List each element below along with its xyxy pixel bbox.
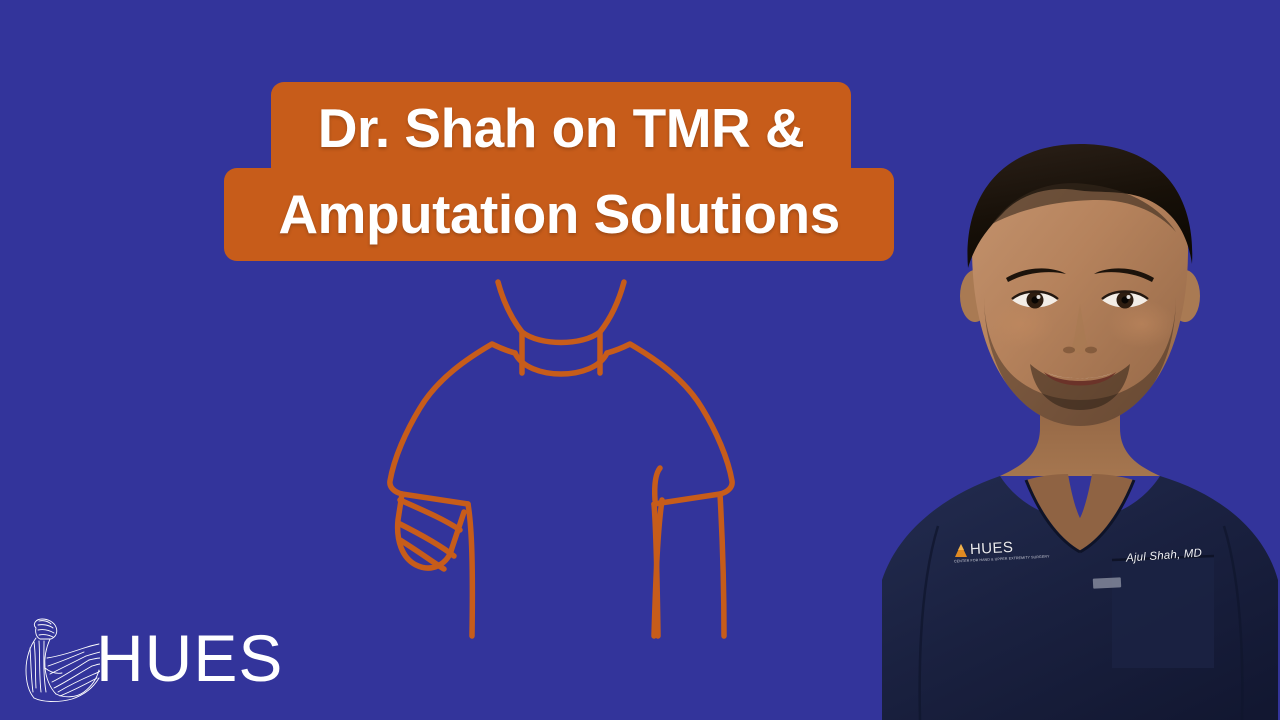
title-text-line2: Amputation Solutions: [224, 168, 894, 261]
torso-illustration: [372, 268, 752, 658]
doctor-portrait: [880, 128, 1280, 720]
title-plate-line1: [271, 82, 851, 174]
scrubs-top: [882, 476, 1278, 720]
shirt-collar: [515, 353, 607, 374]
left-shoulder-sleeve: [390, 344, 515, 504]
neck-base-curve: [522, 332, 600, 343]
left-torso-seam: [468, 504, 472, 636]
title-text-line1: Dr. Shah on TMR &: [271, 82, 851, 174]
brand-wordmark: HUES: [96, 625, 283, 691]
brand-logo: HUES: [14, 612, 300, 704]
video-thumbnail-canvas: HUES CENTER FOR HAND & UPPER EXTREMITY S…: [0, 0, 1280, 720]
title-plate-line2: [224, 168, 894, 261]
right-sleeve-fold: [655, 468, 660, 500]
flexed-arm-nerve-icon: [14, 612, 100, 704]
bandage-line-2: [398, 523, 454, 556]
bandage-line-1: [400, 500, 460, 530]
title-plate-connector: [271, 150, 851, 180]
right-arm-outer-line: [720, 494, 724, 636]
right-shoulder-sleeve: [607, 344, 732, 504]
